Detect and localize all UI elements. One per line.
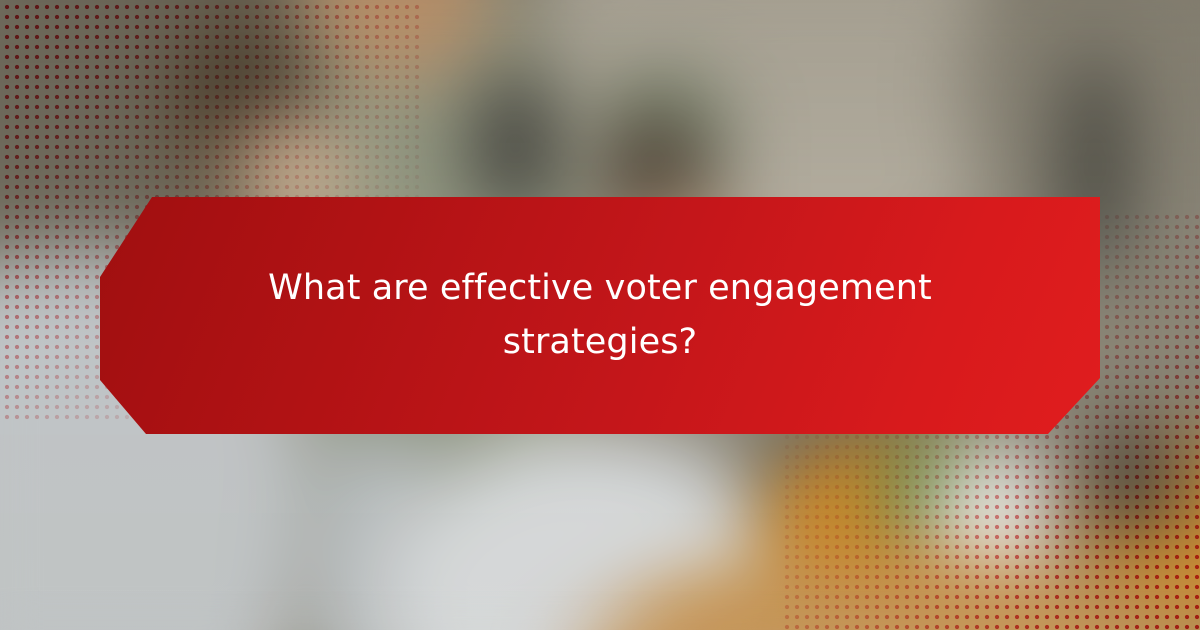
page-title: What are effective voter engagement stra…	[100, 262, 1100, 368]
headline-banner: What are effective voter engagement stra…	[100, 197, 1100, 434]
social-card: What are effective voter engagement stra…	[0, 0, 1200, 630]
